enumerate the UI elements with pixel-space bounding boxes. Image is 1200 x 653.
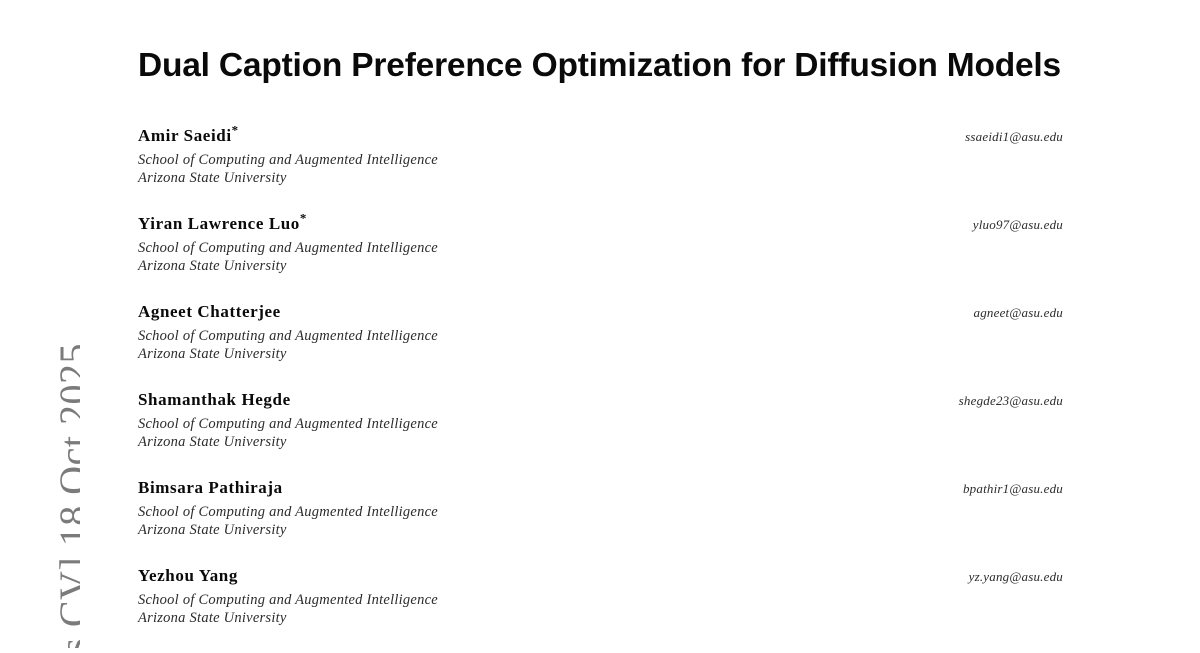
author-name: Agneet Chatterjee <box>138 301 281 324</box>
author-block: Yezhou Yang School of Computing and Augm… <box>138 565 1063 653</box>
author-email[interactable]: yz.yang@asu.edu <box>969 569 1063 585</box>
author-block: Bimsara Pathiraja School of Computing an… <box>138 477 1063 565</box>
author-affiliation-line-1: School of Computing and Augmented Intell… <box>138 239 1063 258</box>
author-name: Amir Saeidi <box>138 125 232 148</box>
author-name: Bimsara Pathiraja <box>138 477 283 500</box>
author-affiliation-line-2: Arizona State University <box>138 169 1063 188</box>
author-affiliation-line-1: School of Computing and Augmented Intell… <box>138 591 1063 610</box>
author-email[interactable]: agneet@asu.edu <box>974 305 1064 321</box>
author-block: Shamanthak Hegde School of Computing and… <box>138 389 1063 477</box>
author-email[interactable]: shegde23@asu.edu <box>959 393 1063 409</box>
author-affiliation-line-2: Arizona State University <box>138 257 1063 276</box>
author-block: Agneet Chatterjee School of Computing an… <box>138 301 1063 389</box>
arxiv-stamp: cs.CV] 18 Oct 2025 <box>0 0 80 648</box>
equal-contribution-marker: * <box>232 123 239 138</box>
author-affiliation-line-2: Arizona State University <box>138 345 1063 364</box>
arxiv-stamp-text: cs.CV] 18 Oct 2025 <box>50 0 80 648</box>
author-affiliation-line-1: School of Computing and Augmented Intell… <box>138 151 1063 170</box>
author-name: Yezhou Yang <box>138 565 238 588</box>
author-name: Shamanthak Hegde <box>138 389 291 412</box>
author-block: Yiran Lawrence Luo* School of Computing … <box>138 213 1063 301</box>
author-affiliation-line-1: School of Computing and Augmented Intell… <box>138 503 1063 522</box>
author-email[interactable]: bpathir1@asu.edu <box>963 481 1063 497</box>
author-affiliation-line-2: Arizona State University <box>138 433 1063 452</box>
paper-page: Dual Caption Preference Optimization for… <box>138 0 1063 648</box>
author-email[interactable]: yluo97@asu.edu <box>973 217 1063 233</box>
author-email[interactable]: ssaeidi1@asu.edu <box>965 129 1063 145</box>
author-affiliation-line-1: School of Computing and Augmented Intell… <box>138 415 1063 434</box>
equal-contribution-marker: * <box>300 211 307 226</box>
author-affiliation-line-1: School of Computing and Augmented Intell… <box>138 327 1063 346</box>
author-list: Amir Saeidi* School of Computing and Aug… <box>138 125 1063 653</box>
page-title: Dual Caption Preference Optimization for… <box>138 0 1063 85</box>
author-affiliation-line-2: Arizona State University <box>138 609 1063 628</box>
author-affiliation-line-2: Arizona State University <box>138 521 1063 540</box>
author-block: Amir Saeidi* School of Computing and Aug… <box>138 125 1063 213</box>
author-name: Yiran Lawrence Luo <box>138 213 300 236</box>
